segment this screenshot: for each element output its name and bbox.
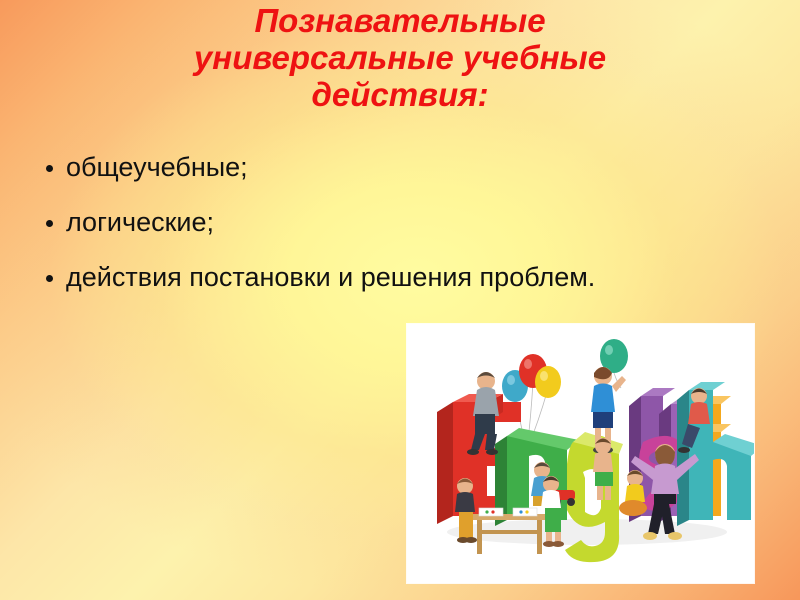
slide-canvas: Познавательные универсальные учебные дей… (0, 0, 800, 600)
page-title: Познавательные универсальные учебные дей… (100, 2, 700, 113)
list-item-label: логические; (66, 207, 698, 238)
bullet-list: общеучебные; логические; действия постан… (38, 152, 698, 293)
title-line-2: универсальные учебные (100, 39, 700, 76)
title-line-3: действия: (100, 76, 700, 113)
english-letters-illustration (407, 324, 754, 583)
bullet-dot-icon (46, 165, 53, 172)
list-item-label: общеучебные; (66, 152, 698, 183)
list-item: общеучебные; (38, 152, 698, 183)
english-letters-image (407, 324, 754, 583)
title-line-1: Познавательные (100, 2, 700, 39)
bullet-dot-icon (46, 275, 53, 282)
list-item: логические; (38, 207, 698, 238)
balloon-icon (535, 366, 561, 398)
bullet-dot-icon (46, 220, 53, 227)
list-item-label: действия постановки и решения проблем. (66, 262, 698, 293)
list-item: действия постановки и решения проблем. (38, 262, 698, 293)
